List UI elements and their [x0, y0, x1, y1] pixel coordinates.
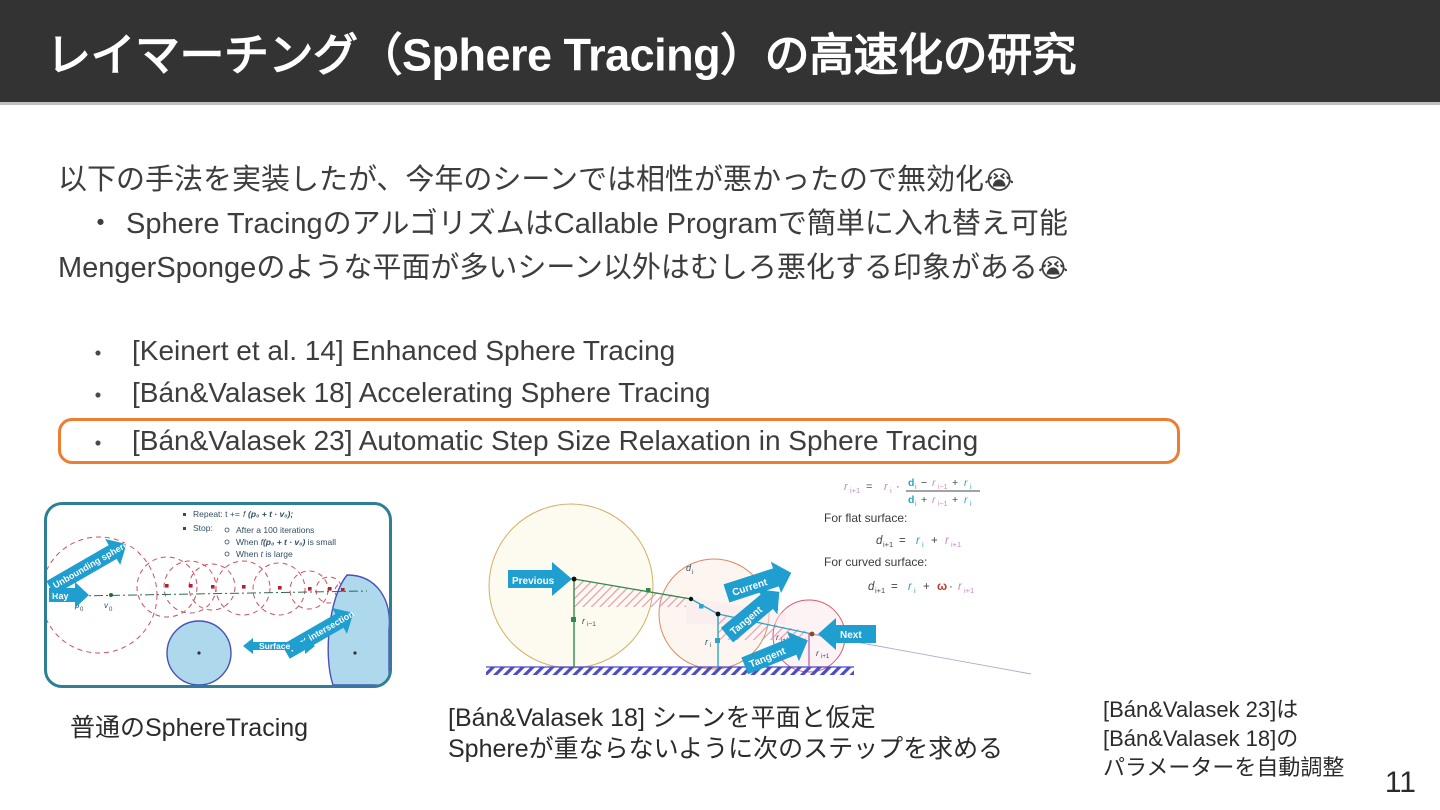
title-divider [0, 102, 1440, 105]
intro-line-2: ・Sphere TracingのアルゴリズムはCallable Programで… [58, 202, 1388, 246]
svg-text:i−1: i−1 [587, 621, 596, 628]
svg-text:d: d [868, 581, 875, 593]
svg-text:r: r [884, 481, 889, 493]
svg-text:r: r [908, 581, 913, 593]
svg-text:+: + [952, 477, 958, 489]
svg-text:r: r [964, 477, 968, 489]
svg-text:When f(p₀ + t · v₀) is small: When f(p₀ + t · v₀) is small [236, 537, 336, 547]
svg-text:+: + [931, 535, 938, 547]
svg-text:+: + [952, 494, 958, 506]
svg-text:i: i [710, 642, 711, 649]
svg-text:r: r [932, 494, 936, 506]
svg-text:+: + [923, 581, 930, 593]
page-title: レイマーチング（Sphere Tracing）の高速化の研究 [46, 19, 1076, 84]
bullet-glyph: ・ [86, 424, 132, 459]
svg-text:When t is large: When t is large [236, 549, 293, 559]
svg-text:Repeat: t +=: Repeat: t += [193, 509, 240, 519]
intro-bullet-glyph: ・ [80, 202, 126, 246]
svg-text:i: i [914, 586, 916, 595]
svg-text:r: r [916, 535, 921, 547]
svg-text:Surface: Surface [259, 641, 290, 651]
svg-text:i+1: i+1 [883, 540, 893, 549]
svg-text:r: r [932, 477, 936, 489]
intro-line-2-text: Sphere TracingのアルゴリズムはCallable Programで簡… [126, 208, 1068, 240]
svg-text:Previous: Previous [512, 576, 555, 587]
figure-ban-valasek-diagram: r i−1 r i d i d i r i+1 r i+1 Previous C… [486, 474, 1046, 682]
svg-text:Stop:: Stop: [193, 523, 213, 533]
intro-paragraph: 以下の手法を実装したが、今年のシーンでは相性が悪かったので無効化😭 ・Spher… [58, 158, 1388, 290]
svg-text:d: d [876, 535, 883, 547]
bullet-glyph: ・ [86, 334, 132, 369]
reference-label: [Bán&Valasek 23] Automatic Step Size Rel… [132, 425, 978, 457]
svg-text:r: r [945, 535, 950, 547]
svg-text:After a 100 iterations: After a 100 iterations [236, 525, 314, 535]
svg-text:f: f [243, 509, 247, 519]
svg-text:+: + [921, 494, 927, 506]
intro-line-1-text: 以下の手法を実装したが、今年のシーンでは相性が悪かったので無効化 [58, 164, 984, 196]
svg-text:=: = [899, 535, 906, 547]
list-item[interactable]: ・ [Bán&Valasek 18] Accelerating Sphere T… [58, 372, 1378, 414]
svg-text:i: i [970, 484, 972, 491]
svg-text:·: · [949, 581, 953, 593]
svg-text:i−1: i−1 [938, 501, 948, 508]
svg-text:i+1: i+1 [951, 540, 961, 549]
svg-text:Next: Next [840, 630, 862, 641]
svg-text:d: d [908, 477, 914, 489]
slide-title-bar: レイマーチング（Sphere Tracing）の高速化の研究 [0, 0, 1440, 102]
figure-notes: Repeat: t += f (p₀ + t · v₀); Stop: Afte… [183, 509, 336, 559]
intro-line-3: MengerSpongeのような平面が多いシーン以外はむしろ悪化する印象がある😭 [58, 246, 1388, 290]
svg-text:−: − [921, 477, 927, 489]
svg-text:(p₀ + t · v₀);: (p₀ + t · v₀); [248, 509, 293, 519]
bullet-glyph: ・ [86, 376, 132, 411]
svg-text:i+1: i+1 [875, 586, 885, 595]
list-item[interactable]: ・ [Keinert et al. 14] Enhanced Sphere Tr… [58, 330, 1378, 372]
svg-text:·: · [896, 481, 900, 493]
svg-text:For flat surface:: For flat surface: [824, 511, 907, 525]
intro-line-1: 以下の手法を実装したが、今年のシーンでは相性が悪かったので無効化😭 [58, 158, 1388, 202]
svg-text:r: r [958, 581, 963, 593]
reference-label: [Bán&Valasek 18] Accelerating Sphere Tra… [132, 377, 711, 409]
svg-text:i: i [692, 569, 693, 576]
figure-3-formulas: r i+1 = r i · d i − r i−1 + r i d i + r … [824, 477, 980, 595]
svg-text:ω: ω [937, 579, 947, 593]
svg-text:i: i [890, 486, 892, 495]
figure-normal-sphere-tracing: p 0 v 0 Ray Unbounding sphere First inte… [44, 502, 392, 688]
list-item-highlighted[interactable]: ・ [Bán&Valasek 23] Automatic Step Size R… [58, 418, 1180, 464]
arrow-unbounding-sphere: Unbounding sphere [47, 531, 135, 601]
svg-text:i: i [915, 484, 917, 491]
svg-text:Unbounding sphere: Unbounding sphere [51, 539, 130, 590]
ban-valasek-diagram: r i−1 r i d i d i r i+1 r i+1 Previous C… [486, 474, 1046, 682]
svg-text:r: r [844, 481, 849, 493]
sphere-tracing-diagram: p 0 v 0 Ray Unbounding sphere First inte… [47, 505, 389, 685]
svg-text:i+1: i+1 [821, 654, 830, 660]
svg-text:For curved surface:: For curved surface: [824, 555, 927, 569]
crying-face-emoji: 😭 [984, 165, 1014, 195]
svg-text:=: = [891, 581, 898, 593]
svg-text:0: 0 [109, 607, 113, 613]
svg-text:i: i [922, 540, 924, 549]
svg-text:0: 0 [80, 607, 84, 613]
svg-text:i+1: i+1 [850, 486, 860, 495]
svg-text:r: r [964, 494, 968, 506]
svg-text:=: = [866, 481, 872, 493]
figure-1-caption: 普通のSphereTracing [70, 713, 308, 744]
reference-list: ・ [Keinert et al. 14] Enhanced Sphere Tr… [58, 330, 1378, 464]
reference-label: [Keinert et al. 14] Enhanced Sphere Trac… [132, 335, 675, 367]
svg-text:i: i [915, 501, 917, 508]
crying-face-emoji-2: 😭 [1038, 253, 1068, 283]
svg-text:i−1: i−1 [938, 484, 948, 491]
figure-3-caption: [Bán&Valasek 23]は [Bán&Valasek 18]の パラメー… [1103, 695, 1344, 782]
figure-2-caption: [Bán&Valasek 18] シーンを平面と仮定 Sphereが重ならないよ… [448, 703, 1003, 765]
page-number: 11 [1385, 766, 1416, 800]
svg-text:i+1: i+1 [964, 586, 974, 595]
svg-text:d: d [908, 494, 914, 506]
svg-text:i: i [970, 501, 972, 508]
intro-line-3-text: MengerSpongeのような平面が多いシーン以外はむしろ悪化する印象がある [58, 252, 1038, 284]
